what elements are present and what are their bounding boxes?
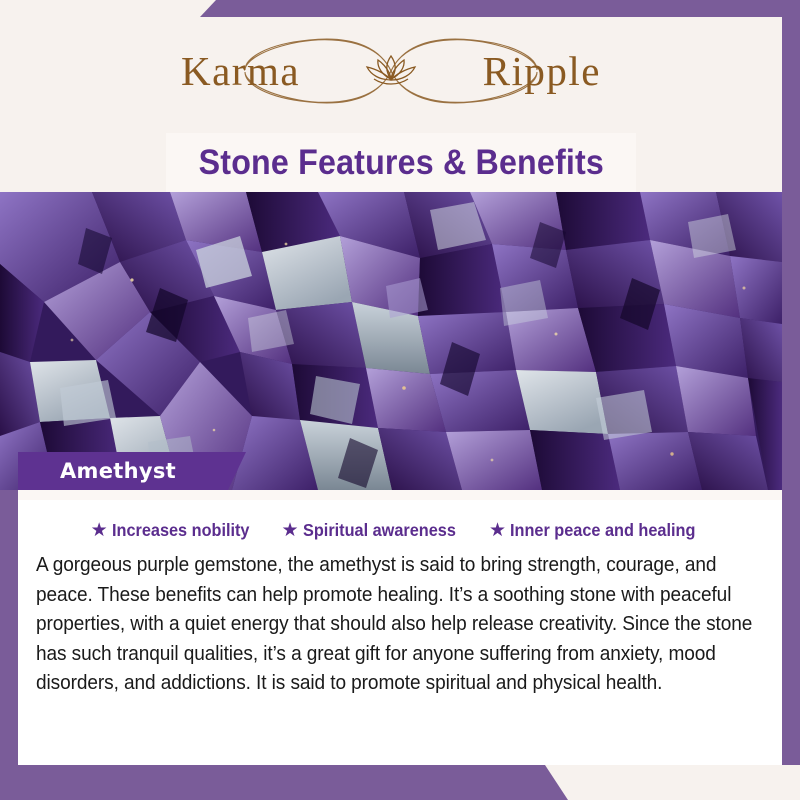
stone-description: A gorgeous purple gemstone, the amethyst… (36, 550, 764, 698)
brand-logo: Karma Ripple (0, 30, 782, 112)
content-body: ★ Increases nobility ★ Spiritual awarene… (18, 500, 782, 765)
brand-name-right: Ripple (483, 48, 601, 94)
brand-name-left: Karma (181, 48, 300, 94)
benefit-item-1: ★ Spiritual awareness (282, 520, 467, 541)
right-purple-border (782, 17, 800, 800)
stone-name-banner: Amethyst (18, 452, 246, 490)
left-purple-border (0, 490, 18, 780)
title-plaque: Stone Features & Benefits (166, 133, 636, 192)
stone-name: Amethyst (60, 459, 176, 483)
lotus-infinity-icon: Karma Ripple (181, 30, 601, 112)
benefit-label: Increases nobility (112, 520, 249, 541)
benefit-label: Spiritual awareness (303, 520, 456, 541)
top-purple-banner (0, 0, 800, 17)
amethyst-crystal-image (0, 192, 782, 490)
benefits-list: ★ Increases nobility ★ Spiritual awarene… (36, 520, 764, 541)
star-icon: ★ (489, 521, 506, 540)
star-icon: ★ (91, 521, 108, 540)
bottom-cream-strip (545, 765, 800, 800)
benefit-label: Inner peace and healing (510, 520, 695, 541)
page-title: Stone Features & Benefits (198, 143, 603, 183)
star-icon: ★ (282, 521, 299, 540)
stone-photo (0, 192, 782, 490)
infographic-page: Karma Ripple Stone Features & Benefits (0, 0, 800, 800)
benefit-item-2: ★ Inner peace and healing (489, 520, 709, 541)
benefit-item-0: ★ Increases nobility (91, 520, 260, 541)
